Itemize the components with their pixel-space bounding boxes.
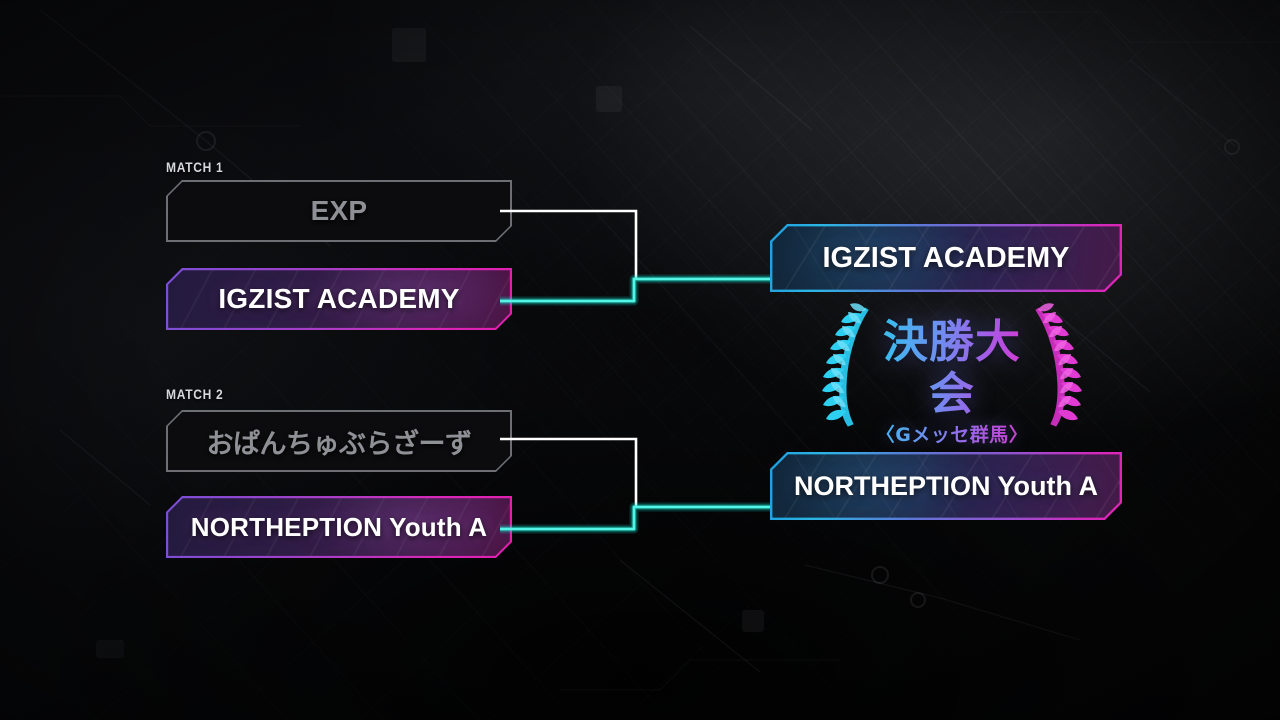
seed-match1-team1[interactable]: EXP <box>166 180 512 242</box>
seed-team-name: NORTHEPTION Youth A <box>166 512 512 543</box>
advance-team-name: NORTHEPTION Youth A <box>770 471 1122 502</box>
advance-panel-bottom[interactable]: NORTHEPTION Youth A <box>770 452 1122 520</box>
seed-team-name: IGZIST ACADEMY <box>166 283 512 315</box>
seed-team-name: EXP <box>166 195 512 227</box>
emblem-subtitle: 〈Gメッセ群馬〉 <box>862 424 1042 447</box>
seed-match2-team2[interactable]: NORTHEPTION Youth A <box>166 496 512 558</box>
seed-match1-team2[interactable]: IGZIST ACADEMY <box>166 268 512 330</box>
connector-loser-line <box>500 211 636 279</box>
emblem-title: 決勝大会 <box>862 316 1042 420</box>
connector-winner-line <box>500 507 782 529</box>
seed-team-name: おぱんちゅぶらざーず <box>166 422 512 461</box>
connector-match1 <box>500 195 790 330</box>
advance-panel-top[interactable]: IGZIST ACADEMY <box>770 224 1122 292</box>
connector-loser-line <box>500 439 636 507</box>
seed-match2-team1[interactable]: おぱんちゅぶらざーず <box>166 410 512 472</box>
finals-emblem: 決勝大会 〈Gメッセ群馬〉 <box>812 300 1092 435</box>
tournament-bracket-screen: 1010010100011101001011010010110100011010… <box>0 0 1280 720</box>
match-1-label: MATCH 1 <box>166 159 223 175</box>
match-2-label: MATCH 2 <box>166 386 223 402</box>
emblem-titles: 決勝大会 〈Gメッセ群馬〉 <box>862 316 1042 447</box>
connector-winner-line <box>500 279 782 301</box>
advance-team-name: IGZIST ACADEMY <box>770 242 1122 275</box>
connector-match2 <box>500 423 790 558</box>
